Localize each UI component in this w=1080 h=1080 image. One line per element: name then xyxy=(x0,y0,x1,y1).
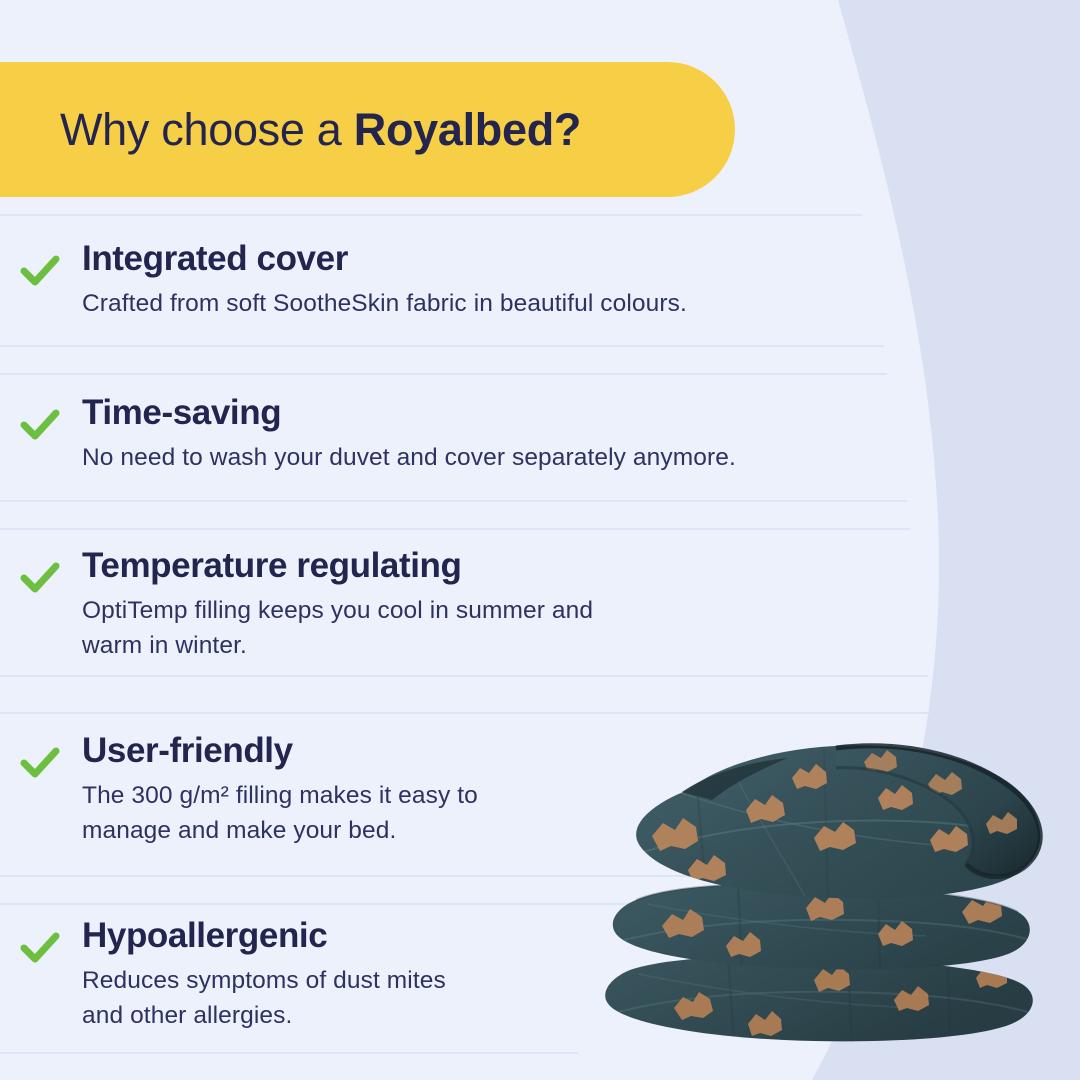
duvet-fold-bottom xyxy=(605,956,1033,1046)
feature-title: Hypoallergenic xyxy=(82,917,446,955)
page-title: Why choose a Royalbed? xyxy=(60,104,581,156)
promo-poster: Why choose a Royalbed? Integrated cover … xyxy=(0,0,1080,1080)
divider-line xyxy=(0,1052,578,1054)
folded-duvet-image xyxy=(578,712,1058,1057)
feature-item-temperature-regulating: Temperature regulating OptiTemp filling … xyxy=(18,547,593,663)
feature-text-block: Temperature regulating OptiTemp filling … xyxy=(82,547,593,663)
feature-item-time-saving: Time-saving No need to wash your duvet a… xyxy=(18,394,736,476)
feature-description: Reduces symptoms of dust mites and other… xyxy=(82,964,446,1034)
page-title-prefix: Why choose a xyxy=(60,104,354,155)
feature-text-block: Hypoallergenic Reduces symptoms of dust … xyxy=(82,917,446,1033)
feature-title: Time-saving xyxy=(82,394,736,432)
divider-line xyxy=(0,500,907,502)
check-icon xyxy=(18,926,62,970)
feature-text-block: Integrated cover Crafted from soft Sooth… xyxy=(82,240,687,322)
check-icon xyxy=(18,249,62,293)
page-title-brand: Royalbed? xyxy=(354,104,581,155)
divider-line xyxy=(0,528,910,530)
feature-text-block: User-friendly The 300 g/m² filling makes… xyxy=(82,732,478,848)
feature-description: The 300 g/m² filling makes it easy to ma… xyxy=(82,779,478,849)
feature-item-integrated-cover: Integrated cover Crafted from soft Sooth… xyxy=(18,240,687,322)
divider-line xyxy=(0,373,887,375)
feature-description: OptiTemp filling keeps you cool in summe… xyxy=(82,594,593,664)
feature-title: Integrated cover xyxy=(82,240,687,278)
feature-title: Temperature regulating xyxy=(82,547,593,585)
check-icon xyxy=(18,556,62,600)
feature-title: User-friendly xyxy=(82,732,478,770)
feature-description: Crafted from soft SootheSkin fabric in b… xyxy=(82,287,687,322)
check-icon xyxy=(18,741,62,785)
feature-text-block: Time-saving No need to wash your duvet a… xyxy=(82,394,736,476)
feature-item-hypoallergenic: Hypoallergenic Reduces symptoms of dust … xyxy=(18,917,446,1033)
feature-item-user-friendly: User-friendly The 300 g/m² filling makes… xyxy=(18,732,478,848)
feature-description: No need to wash your duvet and cover sep… xyxy=(82,441,736,476)
divider-line xyxy=(0,214,862,216)
divider-line xyxy=(0,675,928,677)
header-banner: Why choose a Royalbed? xyxy=(0,62,735,197)
divider-line xyxy=(0,903,660,905)
check-icon xyxy=(18,403,62,447)
divider-line xyxy=(0,345,884,347)
